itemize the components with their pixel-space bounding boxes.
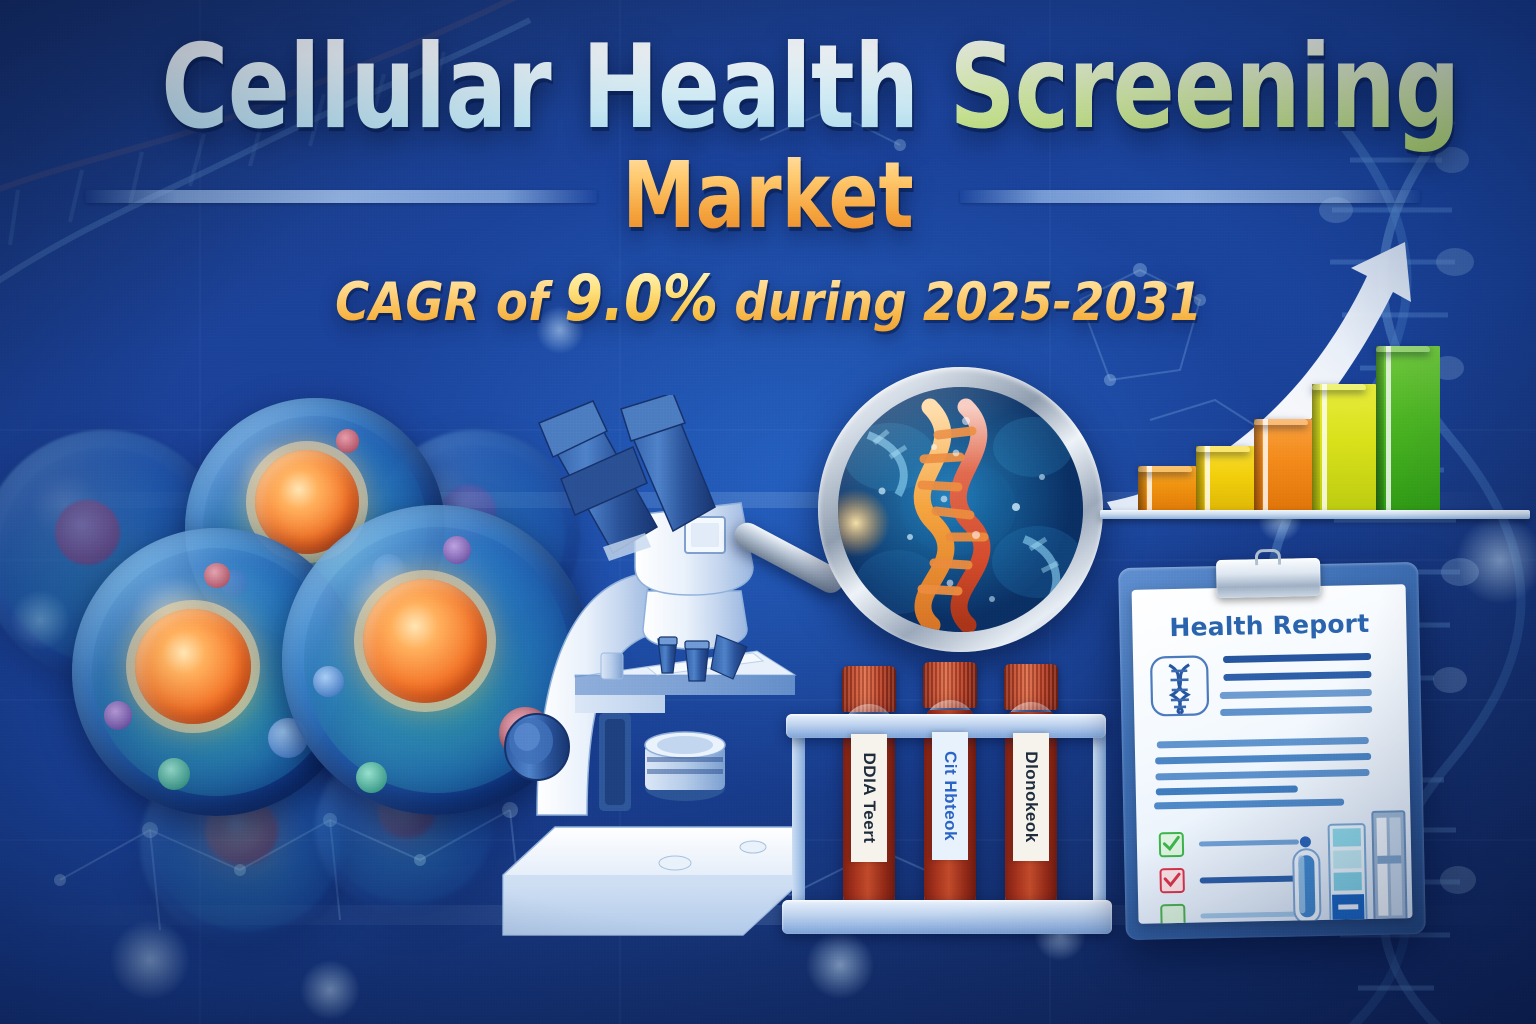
report-line-7 <box>1155 769 1369 780</box>
page-title-line1: Cellular Health Screening <box>161 30 1374 146</box>
chart-bar-1 <box>1138 466 1196 510</box>
checklist-line-1 <box>1199 839 1299 846</box>
report-line-1 <box>1223 653 1371 663</box>
chart-bar-2 <box>1196 446 1254 510</box>
title-part-cellular-health: Cellular Health <box>161 20 949 155</box>
dna-helix-magnified <box>838 387 1083 632</box>
report-title: Health Report <box>1132 608 1407 643</box>
magnifier-lens <box>838 387 1083 632</box>
page-title-line2: Market <box>622 150 913 242</box>
magnifying-glass <box>818 367 1103 652</box>
chart-bar-3 <box>1254 419 1312 510</box>
cagr-suffix: during 2025-2031 <box>718 272 1202 333</box>
report-line-6 <box>1155 753 1371 765</box>
checkbox-checked-red[interactable] <box>1159 868 1185 894</box>
rack-leg-left <box>792 724 805 910</box>
report-line-3 <box>1220 689 1372 699</box>
subtitle-wrap: CAGR of 9.0% during 2025-2031 <box>0 262 1536 335</box>
report-mini-charts <box>1288 809 1408 924</box>
report-line-9 <box>1154 799 1344 810</box>
cagr-subtitle: CAGR of 9.0% during 2025-2031 <box>335 262 1202 335</box>
test-tube-rack: DDIA Teert Cit Hbteok Dlonokeok <box>782 660 1122 960</box>
tube-label-2: Cit Hbteok <box>932 732 968 860</box>
report-line-2 <box>1223 671 1371 681</box>
checklist-line-2 <box>1200 875 1300 883</box>
cagr-value: 9.0% <box>564 262 718 335</box>
health-report-clipboard: Health Report <box>1118 562 1426 940</box>
rack-base <box>782 900 1112 934</box>
rack-leg-right <box>1093 724 1106 910</box>
microscope-icon <box>495 395 825 940</box>
checkbox-checked-green[interactable] <box>1159 832 1185 858</box>
checkbox-unchecked-green[interactable] <box>1160 904 1186 924</box>
clipboard-paper: Health Report <box>1132 584 1413 924</box>
tube-label-1: DDIA Teert <box>851 734 887 862</box>
chart-bar-4 <box>1312 384 1376 510</box>
title-line-2-wrap: Market <box>0 150 1536 242</box>
chart-baseline <box>1100 510 1530 519</box>
tube-label-3: Dlonokeok <box>1013 733 1049 861</box>
report-line-8 <box>1156 785 1298 795</box>
clipboard-clip-tab <box>1255 549 1281 566</box>
cagr-prefix: CAGR of <box>335 272 564 333</box>
checklist-line-3 <box>1200 911 1300 918</box>
chart-bar-5 <box>1376 346 1440 510</box>
title-line-1-wrap: Cellular Health Screening <box>0 30 1536 146</box>
dna-icon <box>1149 654 1210 717</box>
report-line-5 <box>1157 737 1369 748</box>
infographic-canvas: DDIA Teert Cit Hbteok Dlonokeok Health R… <box>0 0 1536 1024</box>
report-line-4 <box>1220 706 1372 716</box>
title-part-screening: Screening <box>950 20 1460 155</box>
